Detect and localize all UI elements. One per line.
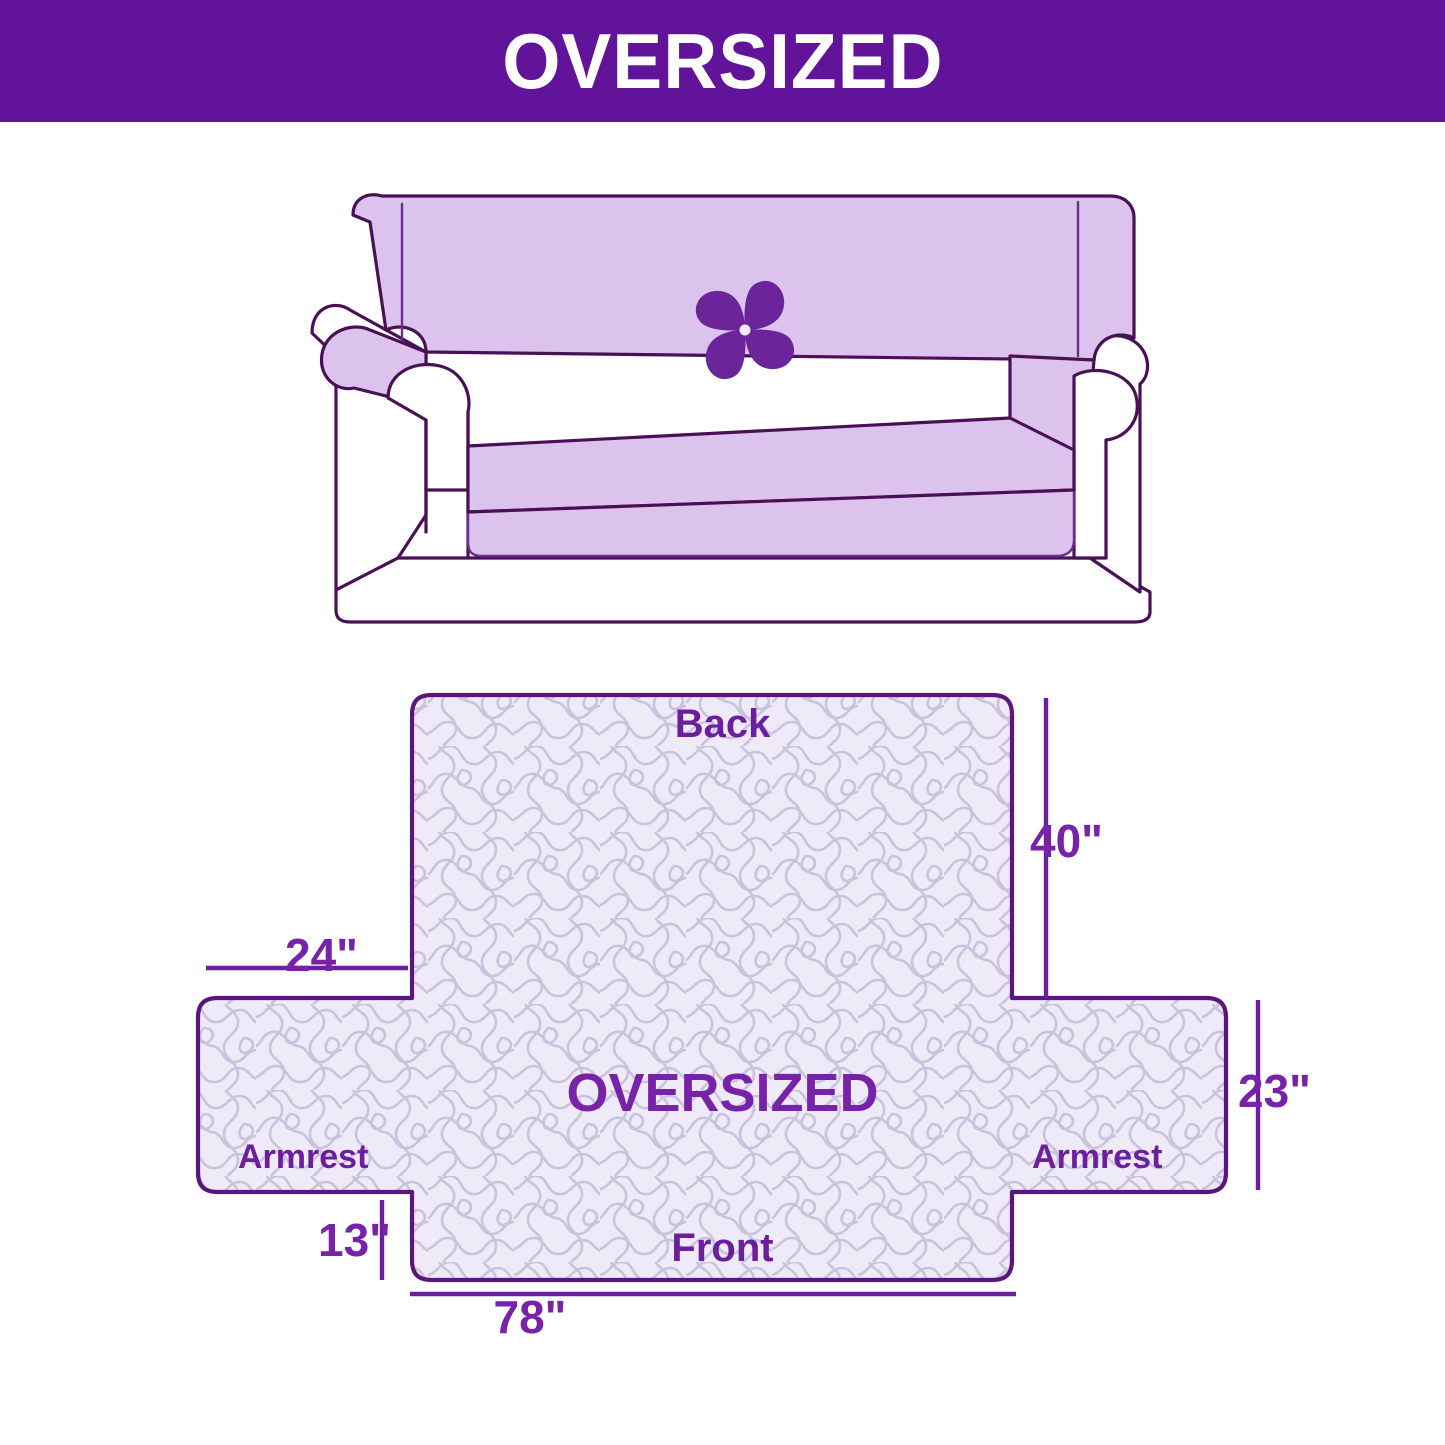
sofa-illustration: .ol { fill:none; stroke:#4A1055; stroke-… <box>250 160 1210 640</box>
product-dimension-infographic: OVERSIZED .ol { fill:none; stroke:#4A105… <box>0 0 1445 1445</box>
page-title: OVERSIZED <box>502 22 943 100</box>
dimension-label-armrest-height: 23" <box>1238 1068 1311 1114</box>
panel-label-center: OVERSIZED <box>0 1066 1445 1120</box>
panel-label-armrest-left: Armrest <box>238 1140 368 1174</box>
dimension-label-front-drop: 13" <box>318 1217 391 1263</box>
cover-outline <box>198 695 1226 1280</box>
panel-label-front: Front <box>0 1228 1445 1268</box>
panel-label-armrest-right: Armrest <box>1032 1140 1162 1174</box>
panel-label-back: Back <box>0 704 1445 744</box>
dimension-label-total-width: 78" <box>0 1294 1060 1340</box>
dimension-label-back-height: 40" <box>1030 818 1103 864</box>
header-banner: OVERSIZED <box>0 0 1445 122</box>
dimension-label-armrest-top: 24" <box>285 932 358 978</box>
sofa-seat <box>468 418 1074 556</box>
